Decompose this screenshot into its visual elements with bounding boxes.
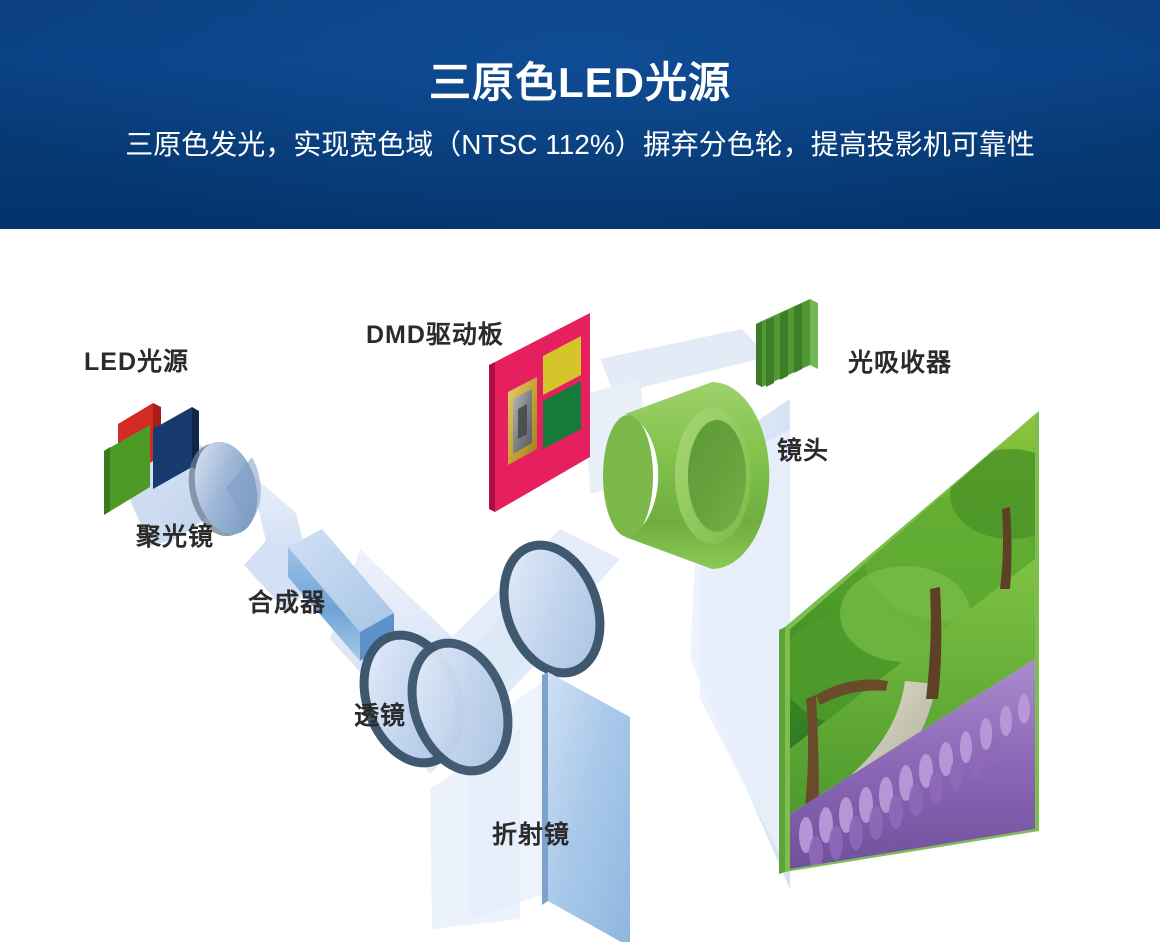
header-banner: 三原色LED光源 三原色发光，实现宽色域（NTSC 112%）摒弃分色轮，提高投… bbox=[0, 0, 1160, 229]
label-light-absorber: 光吸收器 bbox=[848, 351, 952, 376]
label-combiner: 合成器 bbox=[248, 591, 326, 616]
page-subtitle: 三原色发光，实现宽色域（NTSC 112%）摒弃分色轮，提高投影机可靠性 bbox=[0, 124, 1160, 166]
label-condenser-lens: 聚光镜 bbox=[136, 525, 214, 550]
label-led-source: LED光源 bbox=[84, 350, 189, 375]
label-lens-barrel: 镜头 bbox=[777, 439, 829, 464]
optical-path-diagram: LED光源 聚光镜 DMD驱动板 合成器 透镜 折射镜 光吸收器 镜头 bbox=[0, 229, 1160, 942]
label-dmd-driver-board: DMD驱动板 bbox=[366, 323, 504, 348]
label-refraction-mirror: 折射镜 bbox=[492, 823, 570, 848]
page-root: 三原色LED光源 三原色发光，实现宽色域（NTSC 112%）摒弃分色轮，提高投… bbox=[0, 0, 1160, 942]
diagram-illustration bbox=[0, 229, 1160, 942]
dmd-driver-board-graphic bbox=[489, 313, 590, 512]
refraction-mirror-graphic bbox=[542, 672, 630, 942]
light-absorber-graphic bbox=[756, 299, 818, 387]
label-lens-group: 透镜 bbox=[354, 704, 406, 729]
projection-screen-graphic bbox=[779, 409, 1070, 879]
page-title: 三原色LED光源 bbox=[0, 55, 1160, 111]
